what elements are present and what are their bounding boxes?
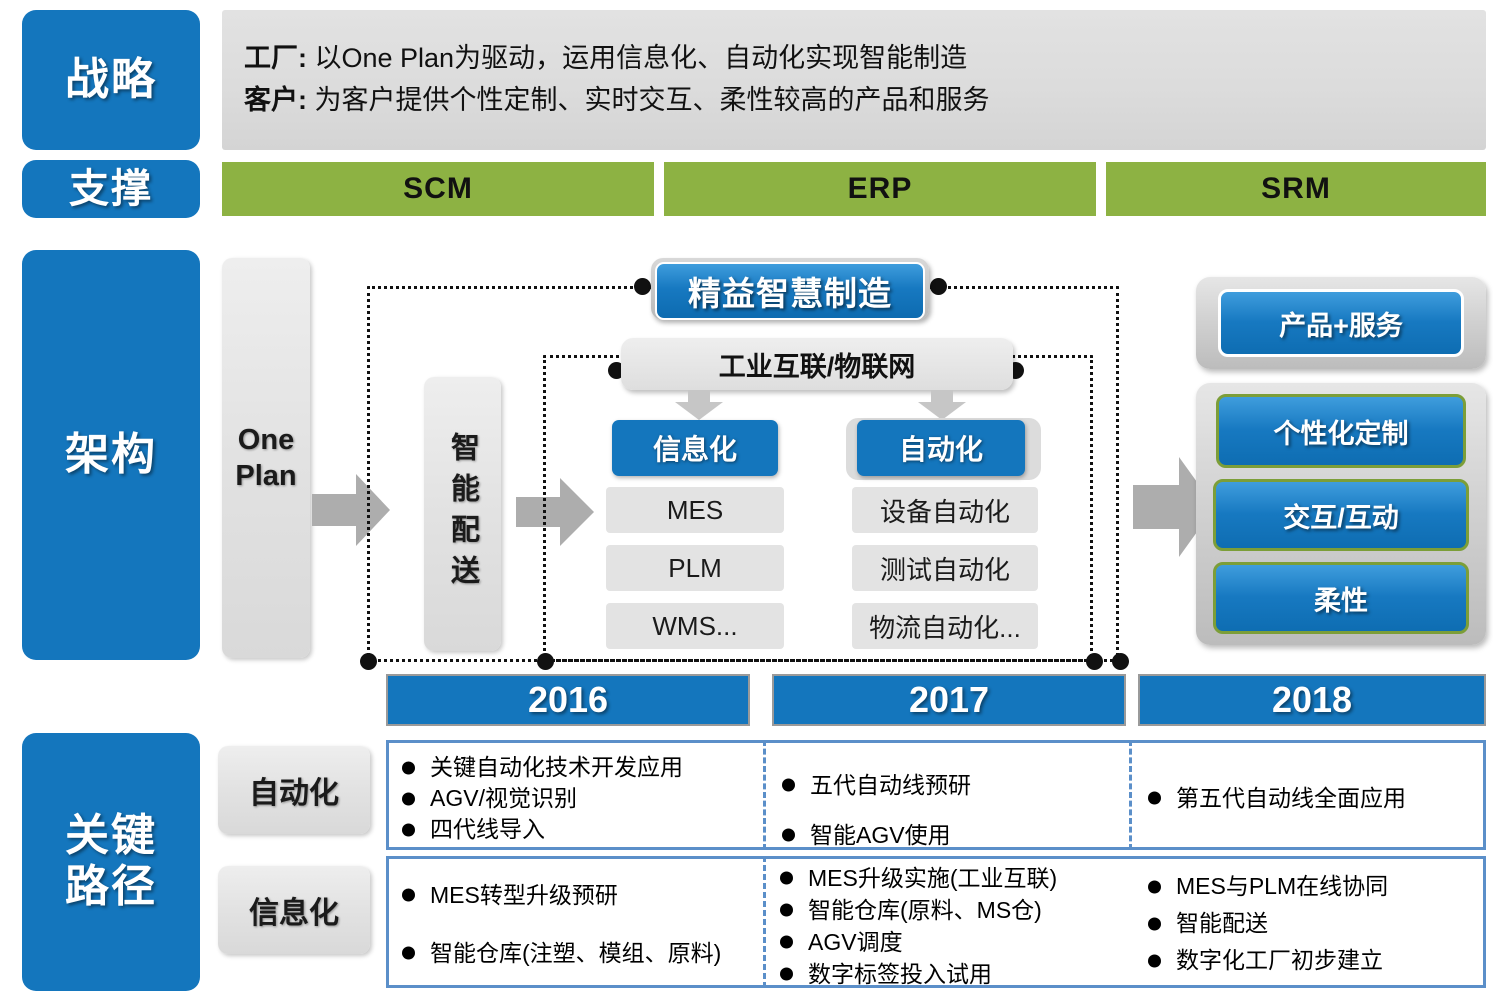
- timeline-year-2017-label: 2017: [909, 679, 989, 721]
- list-item: 数字化工厂初步建立: [1146, 942, 1476, 979]
- lean-smart-manufacturing-banner-inner: 精益智慧制造: [655, 262, 925, 320]
- pillar-automation-title-label: 自动化: [899, 428, 983, 468]
- pillar-informatization-title[interactable]: 信息化: [612, 420, 778, 476]
- row-label-support-text: 支撑: [69, 166, 153, 212]
- pillar-automation-title[interactable]: 自动化: [857, 420, 1025, 476]
- support-item-srm[interactable]: SRM: [1106, 162, 1486, 216]
- strategy-factory-prefix: 工厂:: [244, 43, 307, 73]
- list-item: 智能配送: [1146, 905, 1476, 942]
- iiot-bar[interactable]: 工业互联/物联网: [621, 338, 1013, 390]
- lane-label-informatization: 信息化: [218, 866, 370, 954]
- list-item: MES与PLM在线协同: [1146, 868, 1476, 905]
- list-item: 智能仓库(原料、MS仓): [778, 894, 1128, 926]
- pillar-automation-item-0[interactable]: 设备自动化: [852, 487, 1038, 533]
- outcome-product-service-shell: 产品+服务: [1196, 277, 1486, 369]
- dot-inner-bottom-right: [1086, 653, 1103, 670]
- list-item: 第五代自动线全面应用: [1146, 782, 1476, 814]
- outcome-item-flexibility[interactable]: 柔性: [1213, 562, 1469, 634]
- timeline-year-2017[interactable]: 2017: [772, 674, 1126, 726]
- timeline-divider-2017-2018-informatization: [763, 856, 766, 988]
- arrow-iiot-to-automation: [918, 390, 966, 420]
- row-label-support: 支撑: [22, 160, 200, 218]
- timeline-automation-2016-list: 关键自动化技术开发应用 AGV/视觉识别 四代线导入: [400, 752, 750, 845]
- list-item: 数字标签投入试用: [778, 958, 1128, 990]
- lean-smart-manufacturing-label: 精益智慧制造: [688, 267, 892, 315]
- timeline-year-2018[interactable]: 2018: [1138, 674, 1486, 726]
- row-label-strategy: 战略: [22, 10, 200, 150]
- list-item: 关键自动化技术开发应用: [400, 752, 750, 783]
- timeline-year-2016[interactable]: 2016: [386, 674, 750, 726]
- strategy-factory-text: 以One Plan为驱动，运用信息化、自动化实现智能制造: [307, 43, 967, 73]
- list-item: AGV调度: [778, 926, 1128, 958]
- pillar-automation-item-2[interactable]: 物流自动化...: [852, 603, 1038, 649]
- timeline-informatization-2016-list: MES转型升级预研 智能仓库(注塑、模组、原料): [400, 866, 750, 982]
- row-label-architecture-text: 架构: [65, 430, 157, 481]
- timeline-informatization-2017-list: MES升级实施(工业互联) 智能仓库(原料、MS仓) AGV调度 数字标签投入试…: [778, 862, 1128, 990]
- outcome-item-interaction[interactable]: 交互/互动: [1213, 479, 1469, 551]
- pillar-informatization-title-label: 信息化: [653, 428, 737, 468]
- outcome-item-flexibility-label: 柔性: [1314, 579, 1368, 618]
- pillar-automation-item-1-label: 测试自动化: [880, 550, 1010, 587]
- outcome-product-service[interactable]: 产品+服务: [1218, 289, 1464, 357]
- pillar-informatization-item-0-label: MES: [667, 495, 723, 526]
- row-label-strategy-text: 战略: [65, 55, 157, 106]
- one-plan-label: One Plan: [235, 422, 296, 495]
- pillar-automation-item-2-label: 物流自动化...: [869, 608, 1021, 645]
- list-item: 四代线导入: [400, 814, 750, 845]
- row-label-architecture: 架构: [22, 250, 200, 660]
- outcome-list-shell: 个性化定制 交互/互动 柔性: [1196, 383, 1486, 645]
- pillar-informatization-item-0[interactable]: MES: [606, 487, 784, 533]
- dot-outer-top-left-banner: [634, 278, 651, 295]
- strategy-customer-text: 为客户提供个性定制、实时交互、柔性较高的产品和服务: [307, 85, 990, 115]
- list-item: AGV/视觉识别: [400, 783, 750, 814]
- lane-label-informatization-text: 信息化: [249, 888, 339, 932]
- strategy-panel: 工厂: 以One Plan为驱动，运用信息化、自动化实现智能制造 客户: 为客户…: [222, 10, 1486, 150]
- lane-label-automation-text: 自动化: [249, 768, 339, 812]
- dot-outer-bottom-left: [360, 653, 377, 670]
- timeline-automation-2017-list: 五代自动线预研 智能AGV使用: [780, 760, 1120, 860]
- row-label-critical-path-text: 关键 路径: [65, 811, 157, 912]
- list-item: MES升级实施(工业互联): [778, 862, 1128, 894]
- support-item-erp-label: ERP: [848, 172, 913, 206]
- one-plan-box[interactable]: One Plan: [222, 258, 310, 658]
- list-item: 智能AGV使用: [780, 810, 1120, 860]
- pillar-informatization-item-2-label: WMS...: [652, 611, 737, 642]
- list-item: MES转型升级预研: [400, 866, 750, 924]
- row-label-critical-path: 关键 路径: [22, 733, 200, 991]
- strategy-customer-prefix: 客户:: [244, 85, 307, 115]
- pillar-informatization-item-1-label: PLM: [668, 553, 721, 584]
- timeline-divider-2017-2018-automation: [1129, 740, 1132, 850]
- lean-smart-manufacturing-banner[interactable]: 精益智慧制造: [651, 258, 929, 320]
- outcome-item-customization-label: 个性化定制: [1274, 412, 1409, 451]
- dot-outer-bottom-right: [1112, 653, 1129, 670]
- pillar-automation-item-1[interactable]: 测试自动化: [852, 545, 1038, 591]
- pillar-automation-item-0-label: 设备自动化: [880, 492, 1010, 529]
- iiot-label: 工业互联/物联网: [719, 345, 916, 384]
- support-item-erp[interactable]: ERP: [664, 162, 1096, 216]
- timeline-divider-2016-2017-automation: [763, 740, 766, 850]
- strategy-line-factory: 工厂: 以One Plan为驱动，运用信息化、自动化实现智能制造: [244, 38, 1486, 80]
- arrow-iiot-to-informatization: [675, 390, 723, 420]
- dot-outer-top-right-banner: [930, 278, 947, 295]
- support-item-scm[interactable]: SCM: [222, 162, 654, 216]
- outcome-product-service-label: 产品+服务: [1279, 304, 1403, 343]
- support-item-srm-label: SRM: [1261, 172, 1331, 206]
- outcome-item-interaction-label: 交互/互动: [1283, 496, 1399, 535]
- support-item-scm-label: SCM: [403, 172, 473, 206]
- dot-inner-bottom-left: [537, 653, 554, 670]
- lane-label-automation: 自动化: [218, 746, 370, 834]
- timeline-informatization-2018-list: MES与PLM在线协同 智能配送 数字化工厂初步建立: [1146, 868, 1476, 979]
- timeline-year-2016-label: 2016: [528, 679, 608, 721]
- list-item: 五代自动线预研: [780, 760, 1120, 810]
- timeline-year-2018-label: 2018: [1272, 679, 1352, 721]
- outcome-item-customization[interactable]: 个性化定制: [1216, 394, 1466, 468]
- list-item: 智能仓库(注塑、模组、原料): [400, 924, 750, 982]
- pillar-informatization-item-1[interactable]: PLM: [606, 545, 784, 591]
- pillar-informatization-item-2[interactable]: WMS...: [606, 603, 784, 649]
- timeline-automation-2018-list: 第五代自动线全面应用: [1146, 782, 1476, 814]
- strategy-line-customer: 客户: 为客户提供个性定制、实时交互、柔性较高的产品和服务: [244, 80, 1486, 122]
